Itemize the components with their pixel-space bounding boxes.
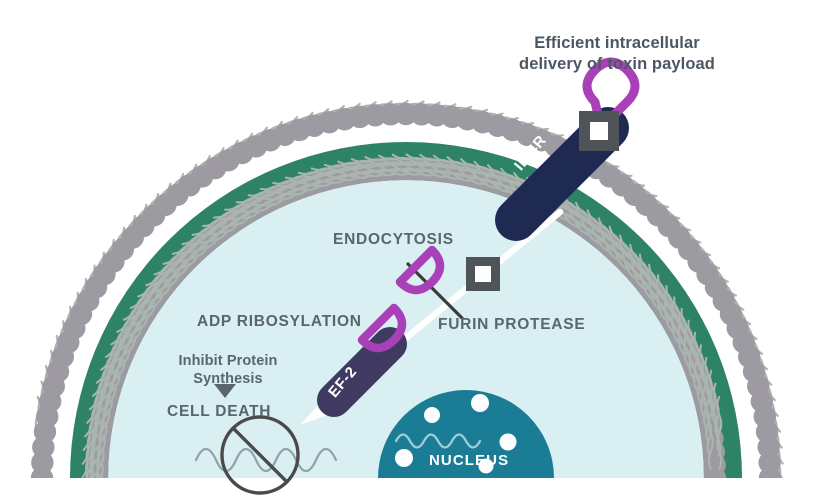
label-nucleus: NUCLEUS — [429, 452, 509, 469]
cell-body-group — [31, 94, 790, 503]
label-furin-protease: FURIN PROTEASE — [438, 316, 585, 334]
page-title-line2: delivery of toxin payload — [505, 54, 729, 75]
phospholipid-outer — [759, 467, 781, 503]
label-cell-death: CELL DEATH — [167, 403, 271, 421]
page-title: Efficient intracellular delivery of toxi… — [505, 33, 729, 75]
cell-diagram-svg — [0, 0, 813, 503]
label-inhibit-line1: Inhibit Protein — [168, 352, 288, 370]
diagram-canvas: Efficient intracellular delivery of toxi… — [0, 0, 813, 503]
square-inner — [475, 266, 491, 282]
label-inhibit-protein-synthesis: Inhibit Protein Synthesis — [168, 352, 288, 388]
label-endocytosis: ENDOCYTOSIS — [333, 231, 454, 249]
nucleus-dot — [424, 407, 440, 423]
nucleus-dot — [395, 449, 413, 467]
page-title-line1: Efficient intracellular — [505, 33, 729, 54]
nucleus-dot — [500, 434, 517, 451]
square-inner — [590, 122, 608, 140]
label-inhibit-line2: Synthesis — [168, 370, 288, 388]
label-adp-ribosylation: ADP RIBOSYLATION — [197, 313, 362, 331]
nucleus-dot — [471, 394, 489, 412]
